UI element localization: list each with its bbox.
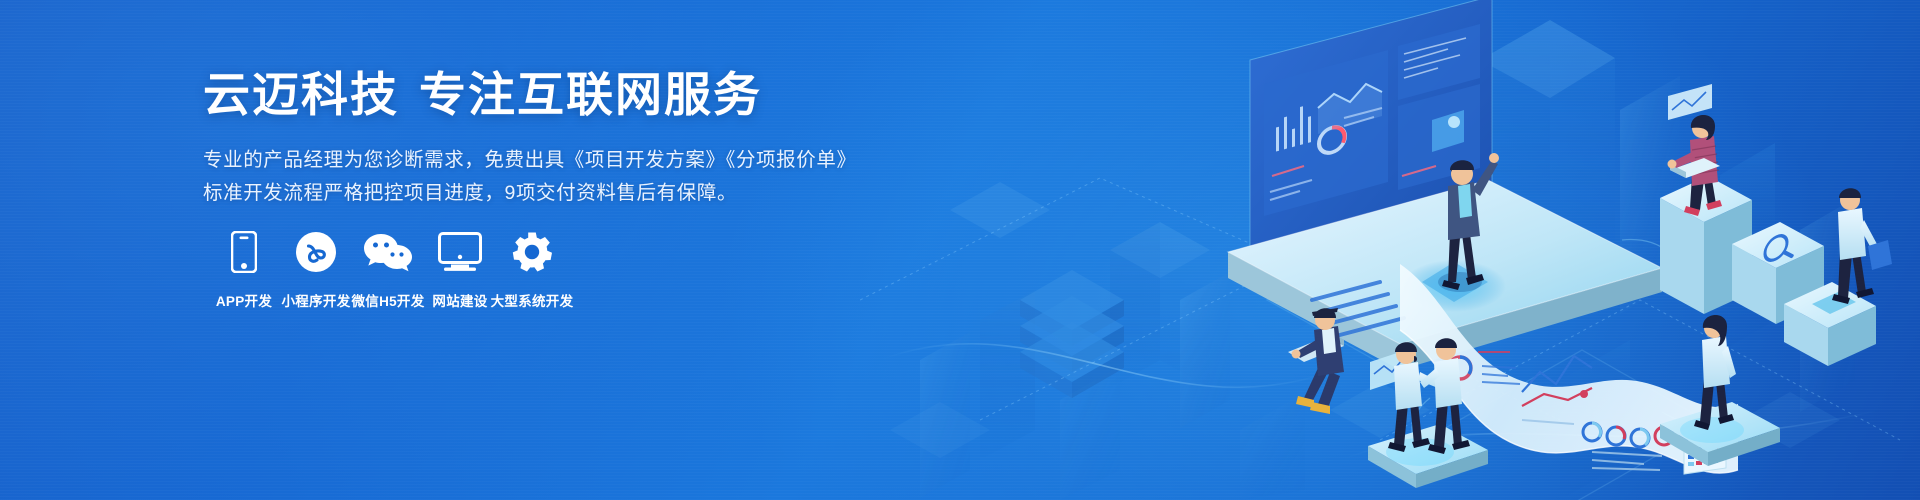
floating-chart-tag xyxy=(1668,84,1712,120)
service-label: 大型系统开发 xyxy=(491,290,574,310)
hero-subtitle: 专业的产品经理为您诊断需求，免费出具《项目开发方案》《分项报价单》 标准开发流程… xyxy=(203,144,857,210)
mini-program-icon xyxy=(295,228,337,276)
headline-brand: 云迈科技 xyxy=(203,68,399,121)
monitor-icon xyxy=(438,228,482,276)
service-label: APP开发 xyxy=(216,290,272,310)
service-label: 网站建设 xyxy=(432,290,487,310)
wechat-icon xyxy=(364,228,412,276)
hero-banner: 云迈科技专注互联网服务 专业的产品经理为您诊断需求，免费出具《项目开发方案》《分… xyxy=(0,0,1920,500)
service-item-wechat-h5[interactable]: 微信H5开发 xyxy=(352,228,424,310)
subtitle-line-1: 专业的产品经理为您诊断需求，免费出具《项目开发方案》《分项报价单》 xyxy=(203,144,857,177)
service-label: 微信H5开发 xyxy=(351,290,424,310)
service-item-large-system[interactable]: 大型系统开发 xyxy=(496,228,568,310)
service-item-app[interactable]: APP开发 xyxy=(208,228,280,310)
mobile-phone-icon xyxy=(231,228,257,276)
service-list: APP开发 小程序开发 微信 xyxy=(208,228,568,310)
hero-copy: 云迈科技专注互联网服务 专业的产品经理为您诊断需求，免费出具《项目开发方案》《分… xyxy=(203,68,857,210)
service-label: 小程序开发 xyxy=(282,290,351,310)
page-title: 云迈科技专注互联网服务 xyxy=(203,68,857,122)
subtitle-line-2: 标准开发流程严格把控项目进度，9项交付资料售后有保障。 xyxy=(203,177,857,210)
service-item-mini-program[interactable]: 小程序开发 xyxy=(280,228,352,310)
headline-tagline: 专注互联网服务 xyxy=(419,68,762,121)
gear-icon xyxy=(511,228,553,276)
service-item-website[interactable]: 网站建设 xyxy=(424,228,496,310)
isometric-data-technology-illustration xyxy=(1192,0,1892,500)
woman-standing-platform xyxy=(1660,315,1780,466)
